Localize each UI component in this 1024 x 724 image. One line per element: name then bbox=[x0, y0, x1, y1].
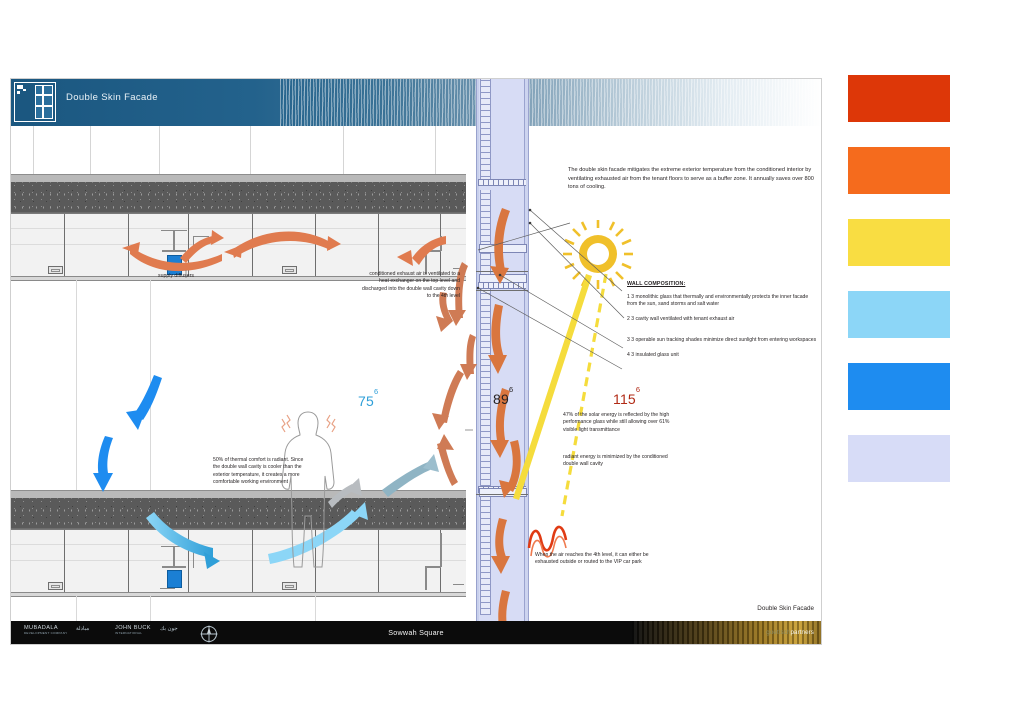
swatch-yellow[interactable] bbox=[848, 219, 950, 266]
architect-credit-second: partners bbox=[791, 629, 815, 636]
swatch-blue[interactable] bbox=[848, 363, 950, 410]
cavity-temperature: 896 bbox=[493, 391, 513, 407]
wall-composition-heading: WALL COMPOSITION: bbox=[627, 281, 819, 287]
solar-reflection-note: 47% of the solar energy is reflected by … bbox=[563, 412, 685, 434]
sheet-title: Double Skin Facade bbox=[757, 605, 814, 612]
wall-composition-item-3: 3 3 operable sun tracking shades minimiz… bbox=[627, 337, 819, 344]
supply-air-arrows-upper bbox=[122, 230, 446, 271]
swatch-light-blue[interactable] bbox=[848, 291, 950, 338]
wall-composition-item-2: 2 3 cavity wall ventilated with tenant e… bbox=[627, 316, 819, 323]
drawing-sheet: Double Skin Facade bbox=[10, 78, 822, 645]
wall-composition-block: WALL COMPOSITION: 1 3 monolithic glass t… bbox=[627, 281, 819, 366]
radiant-energy-wave bbox=[529, 527, 566, 550]
intro-paragraph: The double skin facade mitigates the ext… bbox=[568, 166, 816, 192]
thermal-comfort-note: 50% of thermal comfort is radiant. Since… bbox=[213, 457, 305, 487]
interior-temperature-value: 75 bbox=[358, 393, 374, 409]
wall-composition-item-4: 4 3 insulated glass unit bbox=[627, 352, 819, 359]
swatch-dark-orange[interactable] bbox=[848, 75, 950, 122]
exterior-temperature-unit: 6 bbox=[636, 385, 640, 394]
solar-ray-reflected bbox=[562, 274, 606, 516]
interior-temperature-unit: 6 bbox=[374, 387, 378, 396]
architect-credit: goettschpartners bbox=[766, 629, 814, 636]
radiant-heat-squiggles bbox=[282, 415, 335, 432]
interior-temperature: 756 bbox=[358, 393, 378, 409]
swatch-lavender[interactable] bbox=[848, 435, 950, 482]
grey-arrow bbox=[328, 478, 362, 508]
cavity-temperature-value: 89 bbox=[493, 391, 509, 407]
exhaust-air-note: conditioned exhaust air is ventilated to… bbox=[362, 271, 460, 301]
cavity-temperature-unit: 6 bbox=[509, 385, 513, 394]
exterior-temperature: 1156 bbox=[613, 391, 640, 407]
swatch-orange[interactable] bbox=[848, 147, 950, 194]
radiant-energy-note: radiant energy is minimized by the condi… bbox=[563, 454, 683, 469]
sun-icon bbox=[563, 220, 633, 289]
exterior-temperature-value: 115 bbox=[613, 391, 636, 407]
wall-composition-item-1: 1 3 monolithic glass that thermally and … bbox=[627, 294, 819, 309]
supply-diffusers-label: supply diffusers bbox=[158, 273, 194, 279]
cavity-downflow-arrows bbox=[488, 208, 521, 642]
project-name: Sowwah Square bbox=[10, 628, 822, 637]
fourth-level-note: When the air reaches the 4th level, it c… bbox=[535, 552, 663, 567]
architect-credit-first: goettsch bbox=[766, 629, 790, 636]
sheet-footer: MUBADALA DEVELOPMENT COMPANY مبادلة JOHN… bbox=[10, 621, 822, 645]
